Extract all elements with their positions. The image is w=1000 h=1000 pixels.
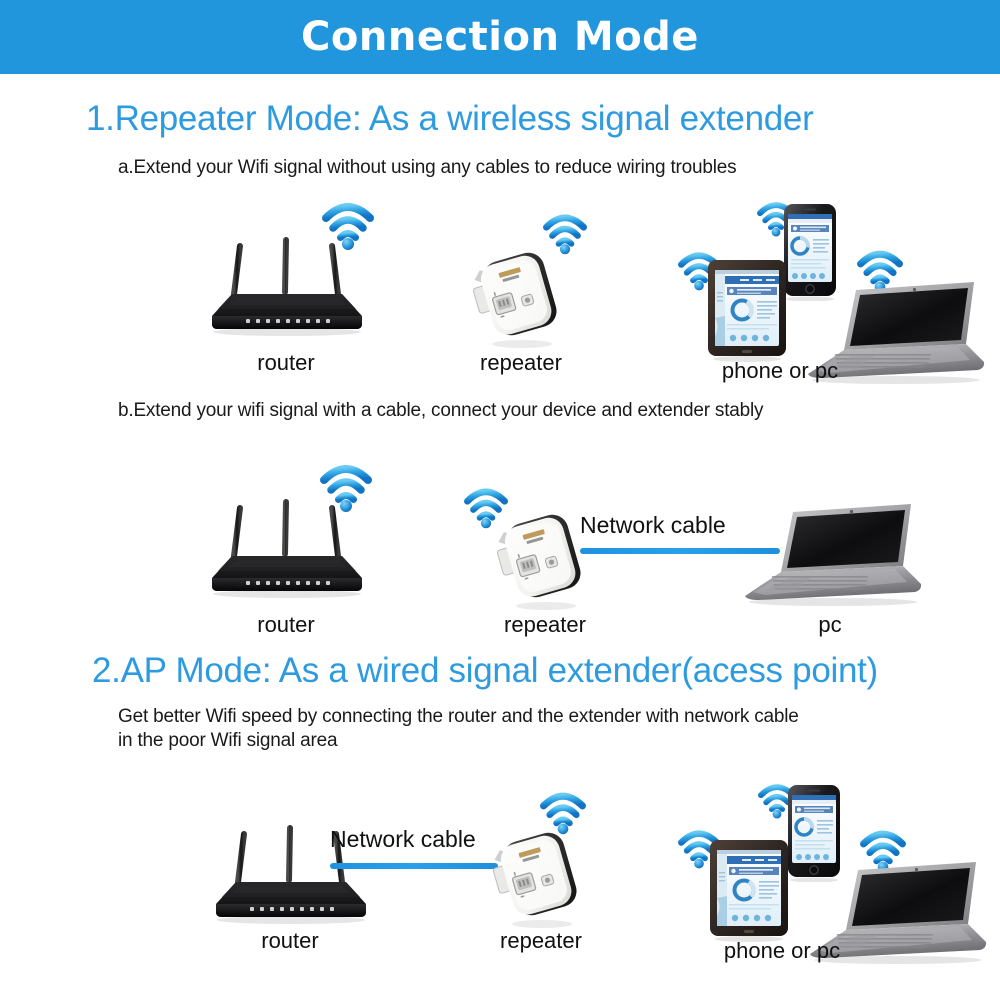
device-label-pc: pc <box>745 612 915 638</box>
section-sub-line1: Get better Wifi speed by connecting the … <box>118 706 799 728</box>
network-cable-label: Network cable <box>330 826 476 853</box>
tablet-device <box>708 838 792 947</box>
wifi-repeater-device <box>466 246 576 361</box>
device-label-repeater: repeater <box>490 612 600 638</box>
section-sub-line2: in the poor Wifi signal area <box>118 730 337 752</box>
network-cable-label: Network cable <box>580 512 726 539</box>
network-cable-line <box>330 863 498 869</box>
device-label-clients: phone or pc <box>702 938 862 964</box>
device-label-router: router <box>196 350 376 376</box>
section-sub-a: a.Extend your Wifi signal without using … <box>118 157 736 179</box>
wifi-router-device <box>196 494 376 609</box>
header-bar: Connection Mode <box>0 0 1000 74</box>
device-label-router: router <box>200 928 380 954</box>
tablet-device <box>706 258 790 367</box>
device-label-repeater: repeater <box>486 928 596 954</box>
section-sub-b: b.Extend your wifi signal with a cable, … <box>118 400 763 422</box>
section-heading-ap-mode: 2.AP Mode: As a wired signal extender(ac… <box>92 651 878 691</box>
device-label-router: router <box>196 612 376 638</box>
device-label-repeater: repeater <box>466 350 576 376</box>
wifi-router-device <box>196 232 376 347</box>
device-label-clients: phone or pc <box>700 358 860 384</box>
wifi-repeater-device <box>486 826 596 941</box>
laptop-device <box>735 500 925 615</box>
page-title: Connection Mode <box>301 14 699 60</box>
section-heading-repeater-mode: 1.Repeater Mode: As a wireless signal ex… <box>86 99 813 139</box>
